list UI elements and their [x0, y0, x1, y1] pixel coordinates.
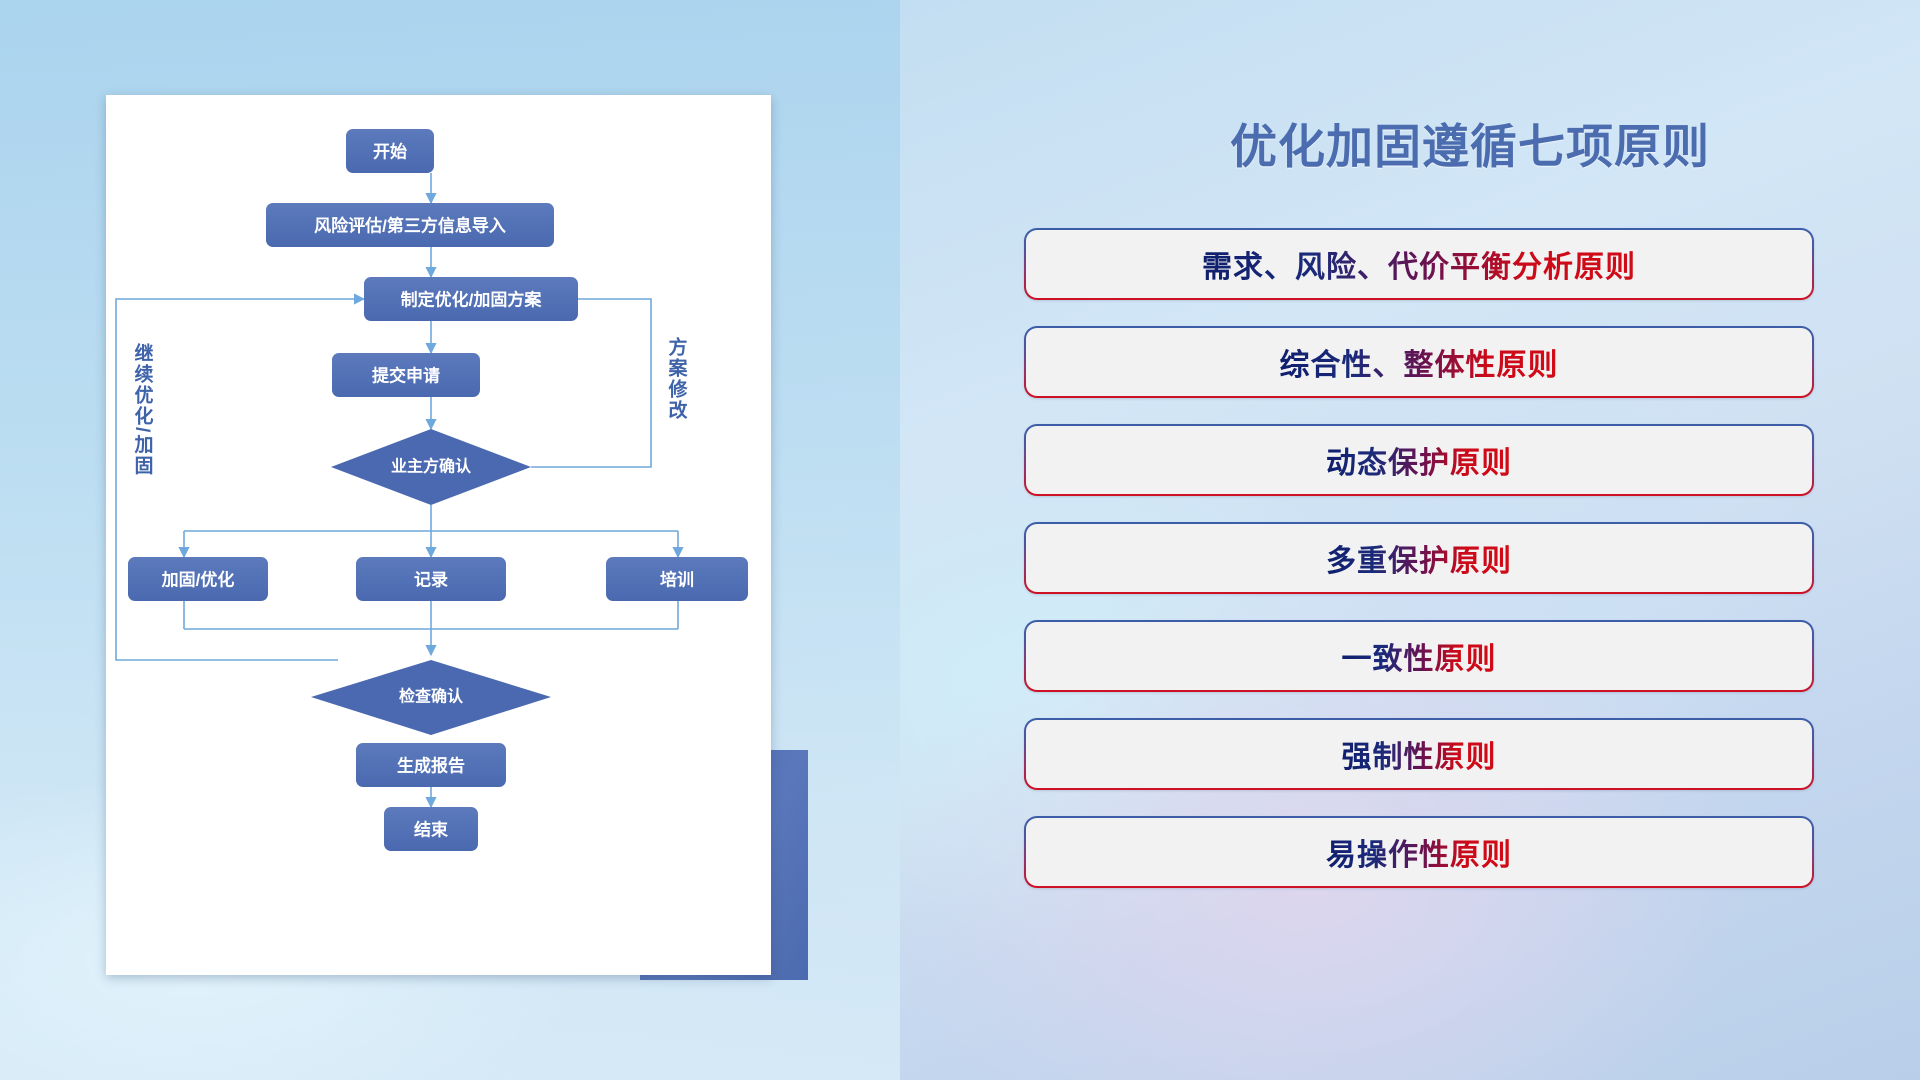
node-submit-label: 提交申请 [372, 366, 440, 386]
node-start[interactable]: 开始 [346, 129, 434, 173]
principle-card[interactable]: 一致性原则 [1024, 620, 1814, 692]
principle-card[interactable]: 多重保护原则 [1024, 522, 1814, 594]
edge-label-continue-optimize: 继续优化/加固 [132, 342, 155, 477]
node-training[interactable]: 培训 [606, 557, 748, 601]
node-check-confirm[interactable]: 检查确认 [311, 660, 551, 735]
flowchart-diagram: 开始 风险评估/第三方信息导入 制定优化/加固方案 提交申请 业主方确认 加固/… [106, 95, 771, 975]
principle-label: 强制性原则 [1342, 732, 1497, 776]
principle-label: 动态保护原则 [1326, 438, 1512, 482]
node-end[interactable]: 结束 [384, 807, 478, 851]
node-risk-assessment[interactable]: 风险评估/第三方信息导入 [266, 203, 554, 247]
principle-label: 综合性、整体性原则 [1280, 340, 1559, 384]
node-report[interactable]: 生成报告 [356, 743, 506, 787]
node-start-label: 开始 [373, 142, 407, 162]
node-training-label: 培训 [660, 570, 694, 590]
node-reinforce-label: 加固/优化 [161, 570, 235, 590]
node-record[interactable]: 记录 [356, 557, 506, 601]
node-submit[interactable]: 提交申请 [332, 353, 480, 397]
node-check-confirm-label: 检查确认 [399, 687, 464, 706]
principle-card[interactable]: 动态保护原则 [1024, 424, 1814, 496]
principle-card[interactable]: 强制性原则 [1024, 718, 1814, 790]
principles-list: 需求、风险、代价平衡分析原则 综合性、整体性原则 动态保护原则 多重保护原则 一… [1024, 228, 1814, 914]
principle-card[interactable]: 综合性、整体性原则 [1024, 326, 1814, 398]
principle-card[interactable]: 需求、风险、代价平衡分析原则 [1024, 228, 1814, 300]
node-owner-confirm-label: 业主方确认 [391, 457, 472, 476]
flowchart-panel: 开始 风险评估/第三方信息导入 制定优化/加固方案 提交申请 业主方确认 加固/… [106, 95, 771, 975]
principles-panel: 优化加固遵循七项原则 需求、风险、代价平衡分析原则 综合性、整体性原则 动态保护… [1020, 0, 1920, 1080]
node-owner-confirm[interactable]: 业主方确认 [331, 429, 531, 505]
edge-label-revise-plan: 方案修改 [666, 336, 689, 421]
node-record-label: 记录 [414, 571, 448, 590]
principle-label: 一致性原则 [1342, 634, 1497, 678]
principle-label: 多重保护原则 [1326, 536, 1512, 580]
principle-card[interactable]: 易操作性原则 [1024, 816, 1814, 888]
node-plan[interactable]: 制定优化/加固方案 [364, 277, 578, 321]
panel-title: 优化加固遵循七项原则 [1020, 108, 1920, 177]
node-plan-label: 制定优化/加固方案 [401, 290, 543, 310]
node-risk-assessment-label: 风险评估/第三方信息导入 [314, 216, 506, 236]
node-report-label: 生成报告 [397, 756, 465, 776]
node-end-label: 结束 [414, 820, 448, 840]
principle-label: 需求、风险、代价平衡分析原则 [1202, 242, 1636, 286]
node-reinforce[interactable]: 加固/优化 [128, 557, 268, 601]
principle-label: 易操作性原则 [1326, 830, 1512, 874]
